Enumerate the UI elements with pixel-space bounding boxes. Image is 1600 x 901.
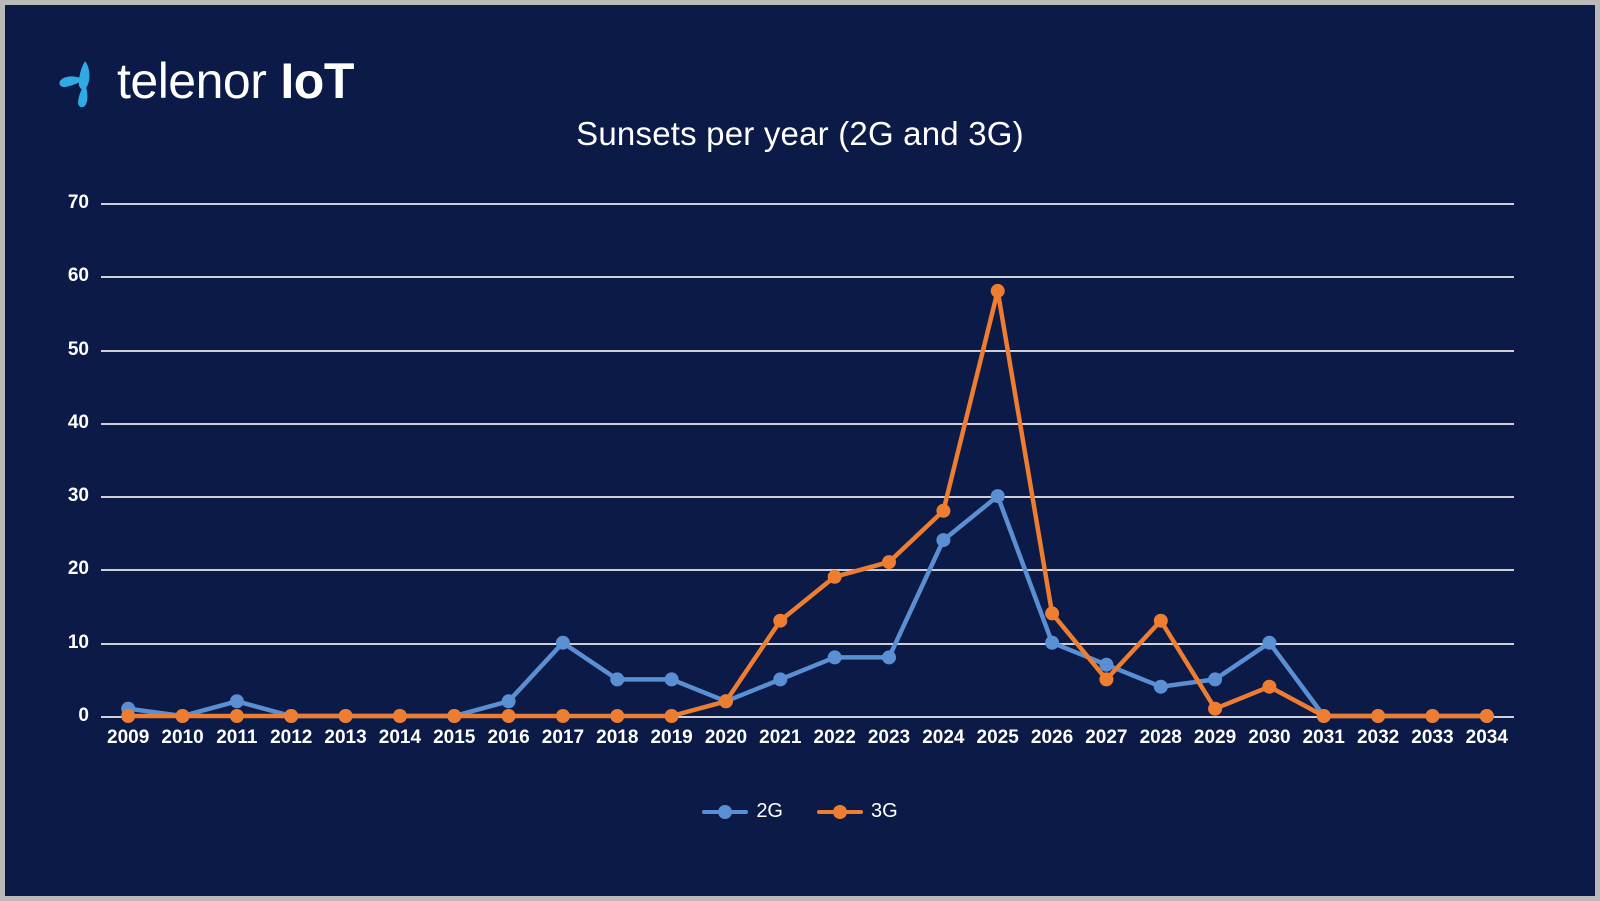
data-point-3g-2032: [1371, 709, 1385, 723]
telenor-propeller-icon: [55, 52, 113, 110]
data-point-3g-2014: [393, 709, 407, 723]
data-point-3g-2015: [447, 709, 461, 723]
data-point-2g-2022: [828, 650, 842, 664]
data-point-3g-2025: [991, 284, 1005, 298]
legend-item-3g[interactable]: 3G: [817, 800, 898, 823]
logo-wordmark: telenorIoT: [117, 56, 354, 106]
data-point-3g-2019: [665, 709, 679, 723]
data-point-3g-2023: [882, 555, 896, 569]
x-tick-label-2028: 2028: [1134, 727, 1188, 757]
series-layer: [101, 203, 1514, 716]
legend-item-2g[interactable]: 2G: [702, 800, 783, 823]
data-point-3g-2024: [936, 504, 950, 518]
data-point-2g-2017: [556, 636, 570, 650]
data-point-3g-2029: [1208, 702, 1222, 716]
data-point-3g-2033: [1426, 709, 1440, 723]
x-tick-label-2021: 2021: [753, 727, 807, 757]
x-tick-label-2020: 2020: [699, 727, 753, 757]
data-point-3g-2034: [1480, 709, 1494, 723]
series-line-2g: [128, 496, 1487, 716]
legend-marker-icon: [718, 805, 732, 819]
x-tick-label-2011: 2011: [210, 727, 264, 757]
x-tick-label-2013: 2013: [318, 727, 372, 757]
data-point-3g-2018: [610, 709, 624, 723]
x-tick-label-2023: 2023: [862, 727, 916, 757]
x-tick-label-2019: 2019: [644, 727, 698, 757]
logo-brand-text: telenor: [117, 53, 266, 109]
x-tick-label-2026: 2026: [1025, 727, 1079, 757]
series-line-3g: [128, 291, 1487, 716]
slide-canvas: telenorIoT Sunsets per year (2G and 3G) …: [0, 0, 1600, 901]
chart-title: Sunsets per year (2G and 3G): [5, 115, 1595, 153]
x-tick-label-2016: 2016: [481, 727, 535, 757]
data-point-2g-2018: [610, 672, 624, 686]
x-tick-label-2025: 2025: [971, 727, 1025, 757]
data-point-2g-2027: [1099, 658, 1113, 672]
logo-product-text: IoT: [280, 53, 353, 109]
data-point-2g-2025: [991, 489, 1005, 503]
x-tick-label-2029: 2029: [1188, 727, 1242, 757]
y-tick-label-50: 50: [29, 339, 89, 361]
data-point-3g-2009: [121, 709, 135, 723]
x-tick-label-2012: 2012: [264, 727, 318, 757]
data-point-2g-2011: [230, 694, 244, 708]
legend-symbol-3g: [817, 804, 863, 820]
y-tick-label-0: 0: [29, 705, 89, 727]
data-point-3g-2022: [828, 570, 842, 584]
data-point-2g-2021: [773, 672, 787, 686]
data-point-2g-2026: [1045, 636, 1059, 650]
data-point-3g-2017: [556, 709, 570, 723]
telenor-iot-logo: telenorIoT: [55, 49, 354, 113]
x-tick-label-2014: 2014: [373, 727, 427, 757]
plot-area: [101, 203, 1514, 716]
x-tick-label-2031: 2031: [1297, 727, 1351, 757]
legend-label-3g: 3G: [871, 800, 898, 823]
chart-legend: 2G3G: [5, 800, 1595, 823]
data-point-2g-2016: [502, 694, 516, 708]
data-point-2g-2028: [1154, 680, 1168, 694]
x-tick-label-2024: 2024: [916, 727, 970, 757]
x-axis-labels: 2009201020112012201320142015201620172018…: [101, 727, 1514, 757]
x-tick-label-2032: 2032: [1351, 727, 1405, 757]
legend-marker-icon: [833, 805, 847, 819]
x-tick-label-2027: 2027: [1079, 727, 1133, 757]
data-point-3g-2016: [502, 709, 516, 723]
y-tick-label-10: 10: [29, 632, 89, 654]
x-tick-label-2034: 2034: [1460, 727, 1514, 757]
legend-symbol-2g: [702, 804, 748, 820]
x-tick-label-2010: 2010: [155, 727, 209, 757]
series-3g: [121, 284, 1494, 723]
legend-label-2g: 2G: [756, 800, 783, 823]
x-tick-label-2009: 2009: [101, 727, 155, 757]
data-point-2g-2029: [1208, 672, 1222, 686]
data-point-3g-2030: [1262, 680, 1276, 694]
data-point-3g-2012: [284, 709, 298, 723]
data-point-3g-2010: [176, 709, 190, 723]
x-tick-label-2018: 2018: [590, 727, 644, 757]
y-tick-label-30: 30: [29, 485, 89, 507]
x-tick-label-2017: 2017: [536, 727, 590, 757]
series-2g: [121, 489, 1494, 723]
y-tick-label-60: 60: [29, 265, 89, 287]
y-tick-label-40: 40: [29, 412, 89, 434]
data-point-3g-2021: [773, 614, 787, 628]
data-point-3g-2028: [1154, 614, 1168, 628]
data-point-2g-2019: [665, 672, 679, 686]
data-point-2g-2030: [1262, 636, 1276, 650]
y-tick-label-20: 20: [29, 558, 89, 580]
y-tick-label-70: 70: [29, 192, 89, 214]
data-point-3g-2020: [719, 694, 733, 708]
x-tick-label-2030: 2030: [1242, 727, 1296, 757]
x-tick-label-2033: 2033: [1405, 727, 1459, 757]
x-tick-label-2022: 2022: [807, 727, 861, 757]
data-point-3g-2027: [1099, 672, 1113, 686]
data-point-3g-2026: [1045, 606, 1059, 620]
data-point-2g-2024: [936, 533, 950, 547]
data-point-2g-2023: [882, 650, 896, 664]
data-point-3g-2011: [230, 709, 244, 723]
x-tick-label-2015: 2015: [427, 727, 481, 757]
data-point-3g-2013: [339, 709, 353, 723]
data-point-3g-2031: [1317, 709, 1331, 723]
